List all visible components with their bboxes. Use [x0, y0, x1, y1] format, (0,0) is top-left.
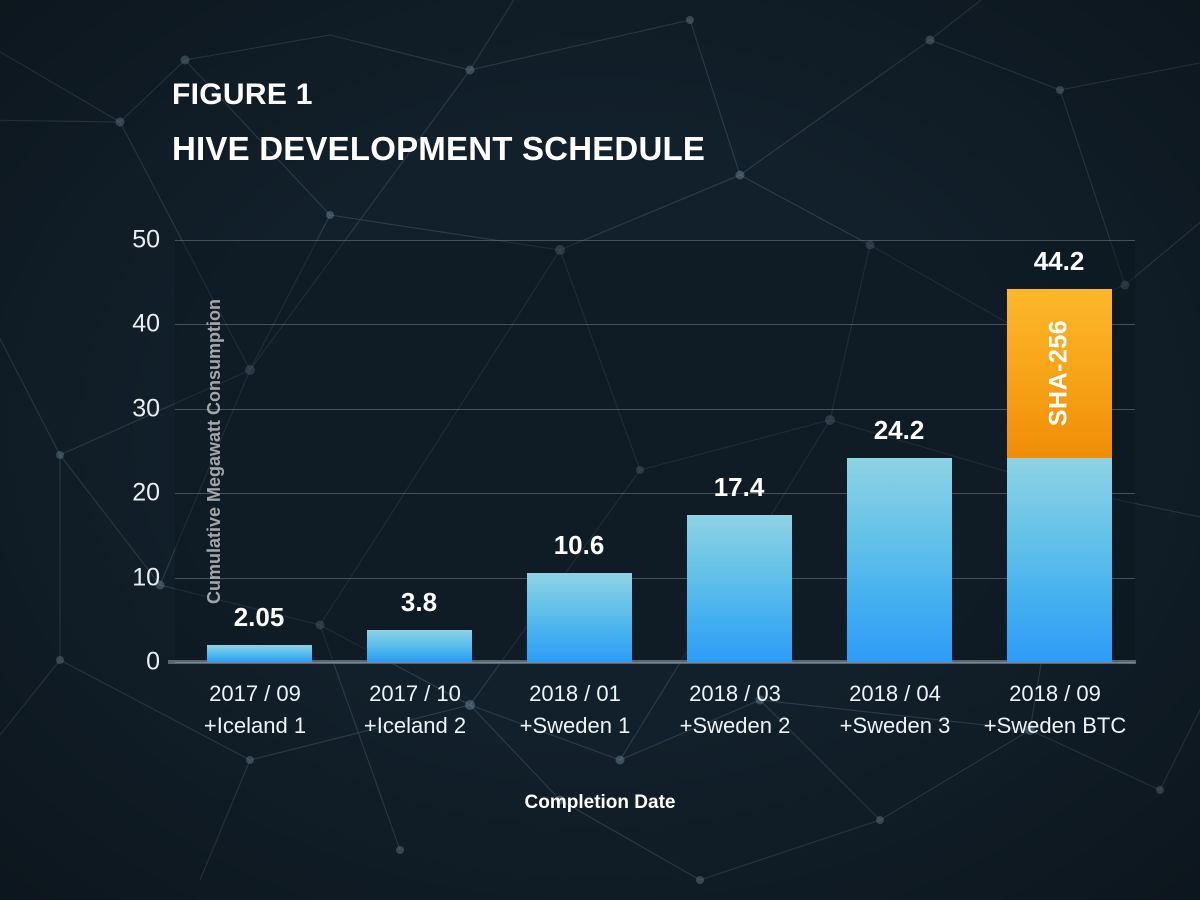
x-axis-tick-site: +Sweden 3 [803, 710, 987, 742]
bar-group[interactable]: SHA-25644.2 [1007, 240, 1112, 662]
x-axis-tick-site: +Sweden 1 [483, 710, 667, 742]
bar-segment-base[interactable] [687, 515, 792, 662]
x-axis-tick-date: 2018 / 09 [963, 678, 1147, 710]
bar-stack[interactable] [847, 458, 952, 662]
bar-value-label: 10.6 [554, 530, 605, 561]
y-axis-tick-label: 0 [100, 648, 160, 677]
bar-value-label: 3.8 [401, 587, 437, 618]
bar-stack[interactable]: SHA-256 [1007, 289, 1112, 662]
bar-segment-base[interactable] [1007, 458, 1112, 662]
x-axis-tick-label: 2017 / 09+Iceland 1 [163, 678, 347, 742]
gridline [175, 324, 1135, 325]
x-axis-tick-date: 2018 / 04 [803, 678, 987, 710]
x-axis-tick-date: 2017 / 10 [323, 678, 507, 710]
bar-segment-base[interactable] [367, 630, 472, 662]
y-axis-tick-label: 40 [100, 310, 160, 339]
bar-group[interactable]: 24.2 [847, 240, 952, 662]
plot-area [175, 240, 1135, 662]
x-axis-tick-site: +Sweden BTC [963, 710, 1147, 742]
x-axis-tick-date: 2018 / 03 [643, 678, 827, 710]
bar-group[interactable]: 3.8 [367, 240, 472, 662]
bar-chart: Cumulative Megawatt Consumption Completi… [0, 0, 1200, 900]
bar-segment-sha256[interactable]: SHA-256 [1007, 289, 1112, 458]
bar-group[interactable]: 17.4 [687, 240, 792, 662]
x-axis-tick-site: +Iceland 1 [163, 710, 347, 742]
x-axis-tick-date: 2018 / 01 [483, 678, 667, 710]
gridline [175, 662, 1135, 663]
x-axis-tick-label: 2018 / 04+Sweden 3 [803, 678, 987, 742]
bar-segment-base[interactable] [527, 573, 632, 662]
x-axis-tick-site: +Sweden 2 [643, 710, 827, 742]
bar-segment-base[interactable] [207, 645, 312, 662]
bar-group[interactable]: 2.05 [207, 240, 312, 662]
bar-group[interactable]: 10.6 [527, 240, 632, 662]
gridline [175, 409, 1135, 410]
bar-segment-label: SHA-256 [1045, 320, 1074, 426]
y-axis-tick-label: 10 [100, 563, 160, 592]
x-axis-tick-label: 2018 / 01+Sweden 1 [483, 678, 667, 742]
x-axis-title: Completion Date [0, 792, 1200, 814]
bar-value-label: 44.2 [1034, 246, 1085, 277]
x-axis-tick-date: 2017 / 09 [163, 678, 347, 710]
x-axis-tick-label: 2018 / 03+Sweden 2 [643, 678, 827, 742]
bar-value-label: 2.05 [234, 602, 285, 633]
x-axis-tick-label: 2018 / 09+Sweden BTC [963, 678, 1147, 742]
y-axis-tick-label: 30 [100, 394, 160, 423]
y-axis-tick-label: 20 [100, 479, 160, 508]
bar-value-label: 17.4 [714, 472, 765, 503]
gridline [175, 578, 1135, 579]
gridline [175, 240, 1135, 241]
bar-segment-base[interactable] [847, 458, 952, 662]
bar-stack[interactable] [687, 515, 792, 662]
bar-stack[interactable] [207, 645, 312, 662]
x-axis-tick-site: +Iceland 2 [323, 710, 507, 742]
bar-stack[interactable] [527, 573, 632, 662]
gridline [175, 493, 1135, 494]
bar-stack[interactable] [367, 630, 472, 662]
x-axis-tick-label: 2017 / 10+Iceland 2 [323, 678, 507, 742]
y-axis-tick-label: 50 [100, 226, 160, 255]
bar-value-label: 24.2 [874, 415, 925, 446]
